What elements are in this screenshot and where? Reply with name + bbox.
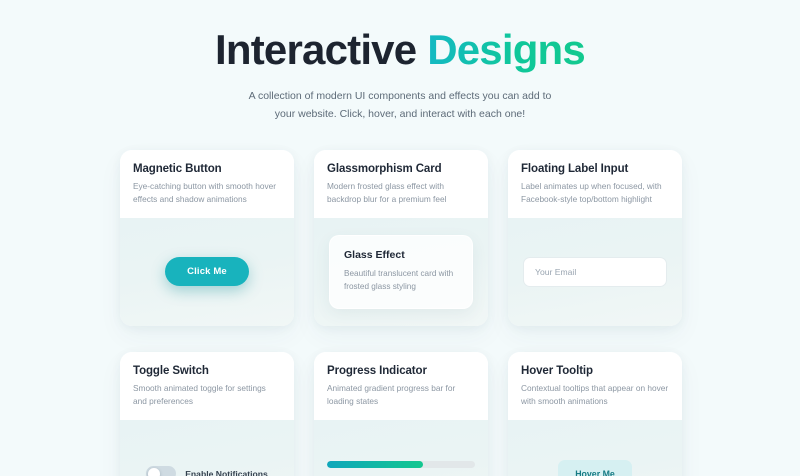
card-magnetic-button: Magnetic Button Eye-catching button with… [120,150,294,326]
progress-wrapper: 65% Complete [327,461,475,476]
card-body [508,218,682,326]
hero-section: Interactive Designs A collection of mode… [0,0,800,124]
card-header: Toggle Switch Smooth animated toggle for… [120,352,294,420]
card-title: Floating Label Input [521,163,669,175]
click-me-button[interactable]: Click Me [165,257,249,286]
card-header: Magnetic Button Eye-catching button with… [120,150,294,218]
card-body: 65% Complete [314,420,488,476]
toggle-row: Enable Notifications [146,466,268,476]
card-description: Eye-catching button with smooth hover ef… [133,180,281,207]
card-description: Smooth animated toggle for settings and … [133,382,281,409]
card-title: Glassmorphism Card [327,163,475,175]
card-body: Enable Notifications [120,420,294,476]
card-header: Hover Tooltip Contextual tooltips that a… [508,352,682,420]
card-description: Animated gradient progress bar for loadi… [327,382,475,409]
card-description: Modern frosted glass effect with backdro… [327,180,475,207]
card-hover-tooltip: Hover Tooltip Contextual tooltips that a… [508,352,682,476]
hover-me-button[interactable]: Hover Me [558,460,632,476]
card-header: Progress Indicator Animated gradient pro… [314,352,488,420]
card-glassmorphism: Glassmorphism Card Modern frosted glass … [314,150,488,326]
toggle-knob [148,468,160,476]
page-root: Interactive Designs A collection of mode… [0,0,800,476]
card-grid: Magnetic Button Eye-catching button with… [120,150,682,476]
glass-effect-panel: Glass Effect Beautiful translucent card … [329,235,473,310]
page-subtitle: A collection of modern UI components and… [245,87,555,124]
card-body: Glass Effect Beautiful translucent card … [314,218,488,326]
card-floating-label-input: Floating Label Input Label animates up w… [508,150,682,326]
card-toggle-switch: Toggle Switch Smooth animated toggle for… [120,352,294,476]
progress-fill [327,461,423,468]
card-header: Glassmorphism Card Modern frosted glass … [314,150,488,218]
page-title-accent: Designs [427,26,585,73]
progress-track[interactable] [327,461,475,468]
card-body: Click Me [120,218,294,326]
card-description: Contextual tooltips that appear on hover… [521,382,669,409]
glass-panel-title: Glass Effect [344,249,458,261]
card-title: Magnetic Button [133,163,281,175]
toggle-label: Enable Notifications [185,469,268,476]
card-title: Toggle Switch [133,365,281,377]
page-title-plain: Interactive [215,26,416,73]
email-field[interactable] [523,257,667,287]
card-progress-indicator: Progress Indicator Animated gradient pro… [314,352,488,476]
card-header: Floating Label Input Label animates up w… [508,150,682,218]
glass-panel-description: Beautiful translucent card with frosted … [344,267,458,294]
card-title: Progress Indicator [327,365,475,377]
page-title: Interactive Designs [0,26,800,73]
card-description: Label animates up when focused, with Fac… [521,180,669,207]
card-title: Hover Tooltip [521,365,669,377]
enable-notifications-toggle[interactable] [146,466,176,476]
card-body: Hover Me [508,420,682,476]
